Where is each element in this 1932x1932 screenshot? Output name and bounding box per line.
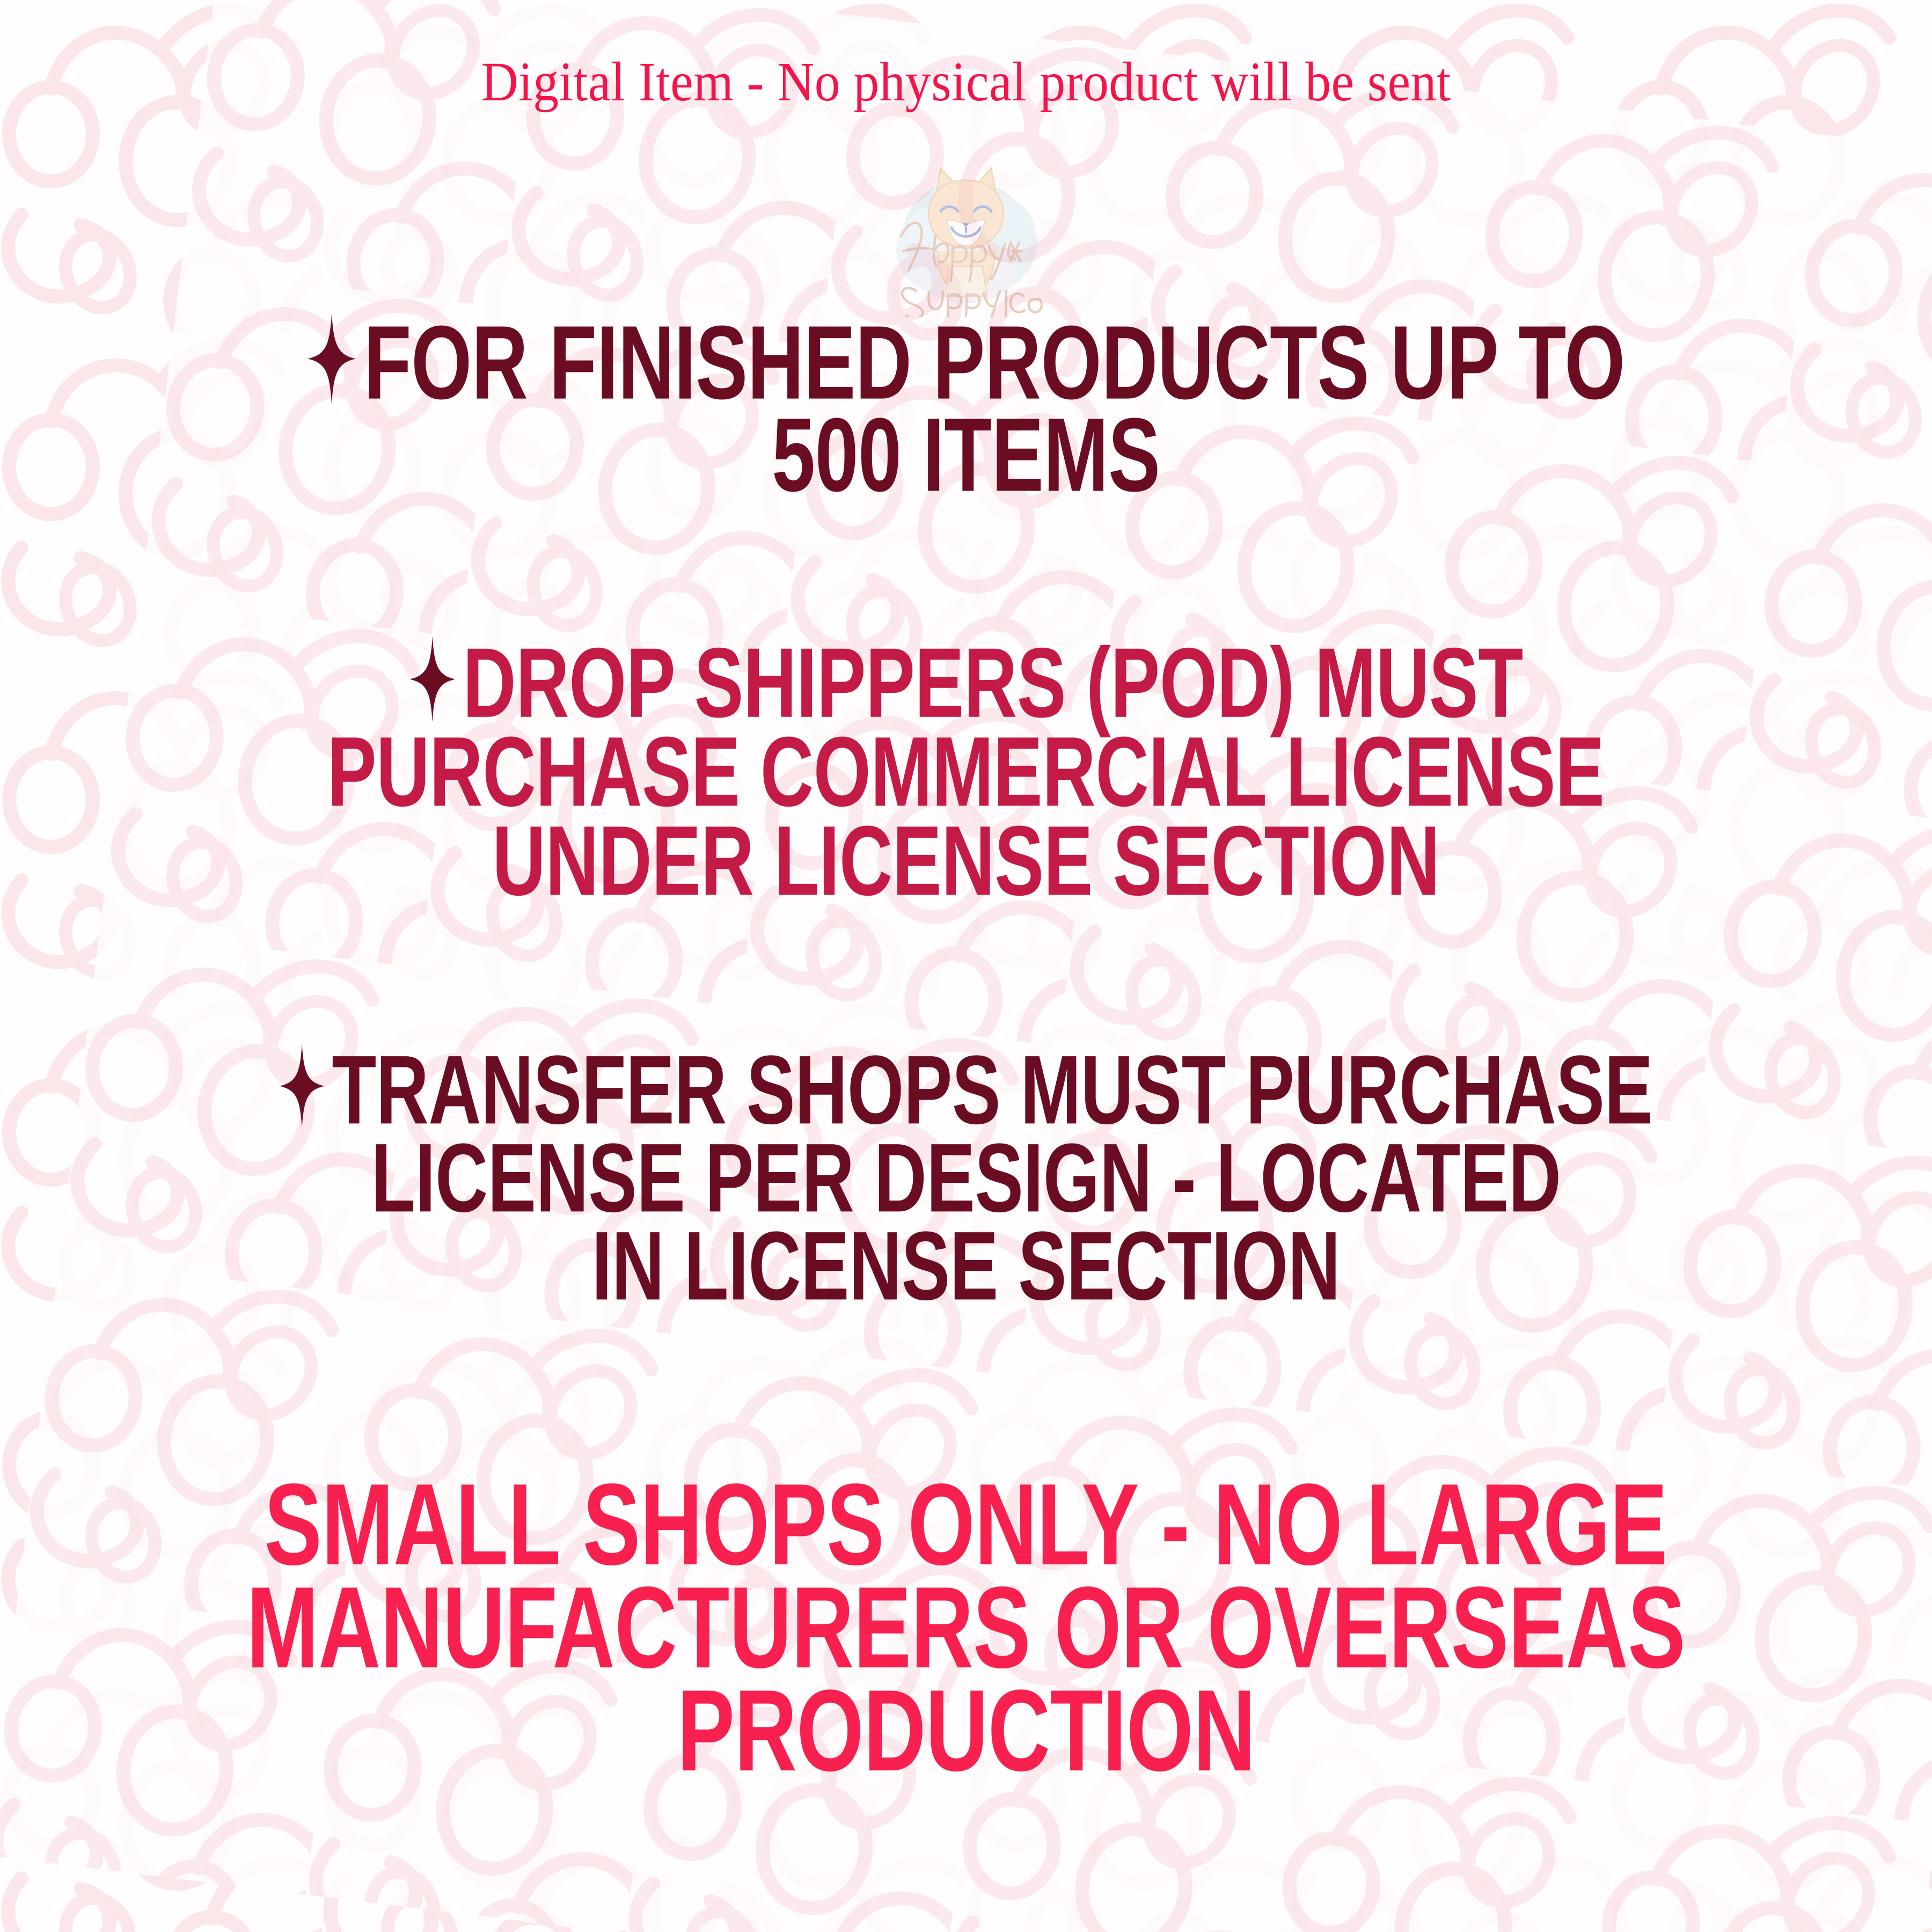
brand-logo-watermark <box>877 156 1055 317</box>
policy-line: FOR FINISHED PRODUCTS UP TO <box>0 322 1932 402</box>
digital-item-notice: Digital Item - No physical product will … <box>481 53 1451 111</box>
header-notice-row: Digital Item - No physical product will … <box>0 53 1932 111</box>
policy-block-drop-shippers: DROP SHIPPERS (POD) MUST PURCHASE COMMER… <box>0 645 1932 899</box>
policy-line-text: PRODUCTION <box>677 1666 1255 1796</box>
policy-line: PRODUCTION <box>0 1687 1932 1776</box>
policy-block-finished-products: FOR FINISHED PRODUCTS UP TO 500 ITEMS <box>0 322 1932 495</box>
listing-graphic-canvas: Digital Item - No physical product will … <box>0 0 1932 1932</box>
four-point-sparkle-icon <box>280 1042 325 1131</box>
policy-line: IN LICENSE SECTION <box>0 1228 1932 1304</box>
four-point-sparkle-icon <box>308 311 356 407</box>
policy-line: PURCHASE COMMERCIAL LICENSE <box>0 734 1932 810</box>
policy-line: SMALL SHOPS ONLY - NO LARGE <box>0 1481 1932 1570</box>
policy-block-small-shops: SMALL SHOPS ONLY - NO LARGE MANUFACTURER… <box>0 1481 1932 1776</box>
policy-line: DROP SHIPPERS (POD) MUST <box>0 645 1932 721</box>
policy-line: UNDER LICENSE SECTION <box>0 823 1932 899</box>
policy-line-text: 500 ITEMS <box>772 396 1160 513</box>
four-point-sparkle-icon <box>409 634 455 725</box>
policy-line: 500 ITEMS <box>0 414 1932 495</box>
policy-blocks: FOR FINISHED PRODUCTS UP TO 500 ITEMS DR… <box>0 322 1932 1776</box>
policy-line: TRANSFER SHOPS MUST PURCHASE <box>0 1052 1932 1128</box>
policy-line-text: IN LICENSE SECTION <box>592 1211 1341 1321</box>
policy-line: MANUFACTURERS OR OVERSEAS <box>0 1584 1932 1673</box>
policy-line-text: UNDER LICENSE SECTION <box>492 806 1439 917</box>
policy-line: LICENSE PER DESIGN - LOCATED <box>0 1140 1932 1216</box>
policy-block-transfer-shops: TRANSFER SHOPS MUST PURCHASE LICENSE PER… <box>0 1052 1932 1304</box>
